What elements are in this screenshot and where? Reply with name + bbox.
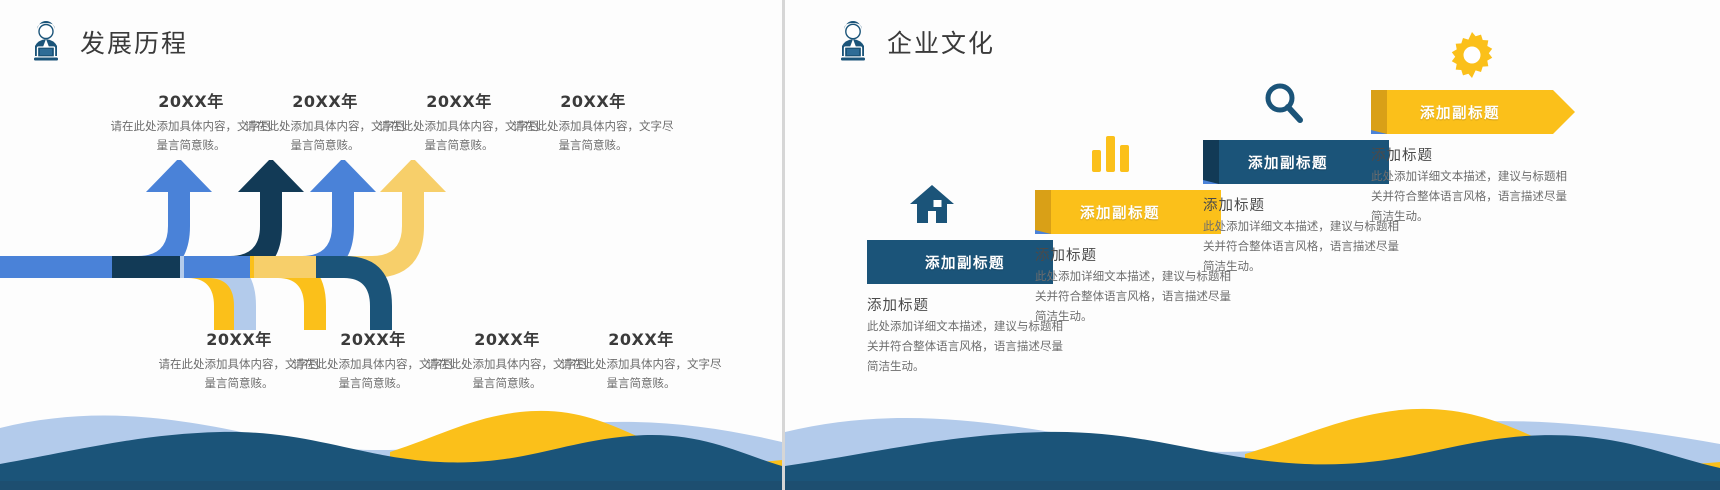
footer-bar-left <box>0 481 782 490</box>
ribbon-banner-3[interactable]: 添加副标题 <box>1203 140 1399 184</box>
card-desc: 此处添加详细文本描述，建议与标题相关并符合整体语言风格，语言描述尽量简洁生动。 <box>1203 217 1399 276</box>
culture-card-1[interactable]: 添加副标题 添加标题 此处添加详细文本描述，建议与标题相关并符合整体语言风格，语… <box>867 240 1063 376</box>
card-desc: 此处添加详细文本描述，建议与标题相关并符合整体语言风格，语言描述尽量简洁生动。 <box>867 317 1063 376</box>
card-title: 添加标题 <box>1203 194 1399 215</box>
card-title: 添加标题 <box>867 294 1063 315</box>
ribbon-banner-2[interactable]: 添加副标题 <box>1035 190 1231 234</box>
gear-icon <box>1449 32 1495 83</box>
ribbon-shape <box>1203 140 1389 184</box>
culture-card-4[interactable]: 添加副标题 添加标题 此处添加详细文本描述，建议与标题相关并符合整体语言风格，语… <box>1371 90 1575 226</box>
bar-chart-icon <box>1090 134 1132 179</box>
card-desc: 此处添加详细文本描述，建议与标题相关并符合整体语言风格，语言描述尽量简洁生动。 <box>1371 167 1567 226</box>
wave-decoration-right <box>785 380 1720 490</box>
footer-bar-right <box>785 481 1720 490</box>
card-body-2: 添加标题 此处添加详细文本描述，建议与标题相关并符合整体语言风格，语言描述尽量简… <box>1035 244 1231 326</box>
culture-card-3[interactable]: 添加副标题 添加标题 此处添加详细文本描述，建议与标题相关并符合整体语言风格，语… <box>1203 140 1399 276</box>
slide-header-right: 企业文化 <box>833 20 995 64</box>
culture-card-2[interactable]: 添加副标题 添加标题 此处添加详细文本描述，建议与标题相关并符合整体语言风格，语… <box>1035 190 1231 326</box>
card-body-4: 添加标题 此处添加详细文本描述，建议与标题相关并符合整体语言风格，语言描述尽量简… <box>1371 144 1567 226</box>
ribbon-banner-4[interactable]: 添加副标题 <box>1371 90 1575 134</box>
worker-laptop-icon <box>26 20 66 64</box>
timeline-arrow-graphic <box>0 160 782 330</box>
card-title: 添加标题 <box>1035 244 1231 265</box>
ribbon-shape <box>867 240 1053 284</box>
card-desc: 此处添加详细文本描述，建议与标题相关并符合整体语言风格，语言描述尽量简洁生动。 <box>1035 267 1231 326</box>
slide-development-history: 发展历程 <box>0 0 782 490</box>
timeline-year: 20XX年 <box>508 88 678 112</box>
worker-laptop-icon <box>833 20 873 64</box>
search-icon <box>1263 82 1305 131</box>
ribbon-shape-arrow <box>1371 90 1575 134</box>
ribbon-banner-1[interactable]: 添加副标题 <box>867 240 1063 284</box>
slide-pair: 发展历程 <box>0 0 1720 490</box>
card-title: 添加标题 <box>1371 144 1567 165</box>
timeline-year: 20XX年 <box>556 326 726 350</box>
slide-corporate-culture: 企业文化 添加副标题 添加标题 此处添加详细文本描述，建议与标题相关并符合整体语… <box>785 0 1720 490</box>
wave-decoration-left <box>0 380 782 490</box>
slide-header-left: 发展历程 <box>26 20 188 64</box>
page-title: 企业文化 <box>887 24 995 60</box>
card-body-3: 添加标题 此处添加详细文本描述，建议与标题相关并符合整体语言风格，语言描述尽量简… <box>1203 194 1399 276</box>
ribbon-shape <box>1035 190 1221 234</box>
page-title: 发展历程 <box>80 24 188 60</box>
home-icon <box>909 182 955 231</box>
timeline-desc: 请在此处添加具体内容，文字尽量言简意赅。 <box>508 117 678 155</box>
card-body-1: 添加标题 此处添加详细文本描述，建议与标题相关并符合整体语言风格，语言描述尽量简… <box>867 294 1063 376</box>
timeline-label-4: 20XX年 请在此处添加具体内容，文字尽量言简意赅。 <box>508 88 678 155</box>
